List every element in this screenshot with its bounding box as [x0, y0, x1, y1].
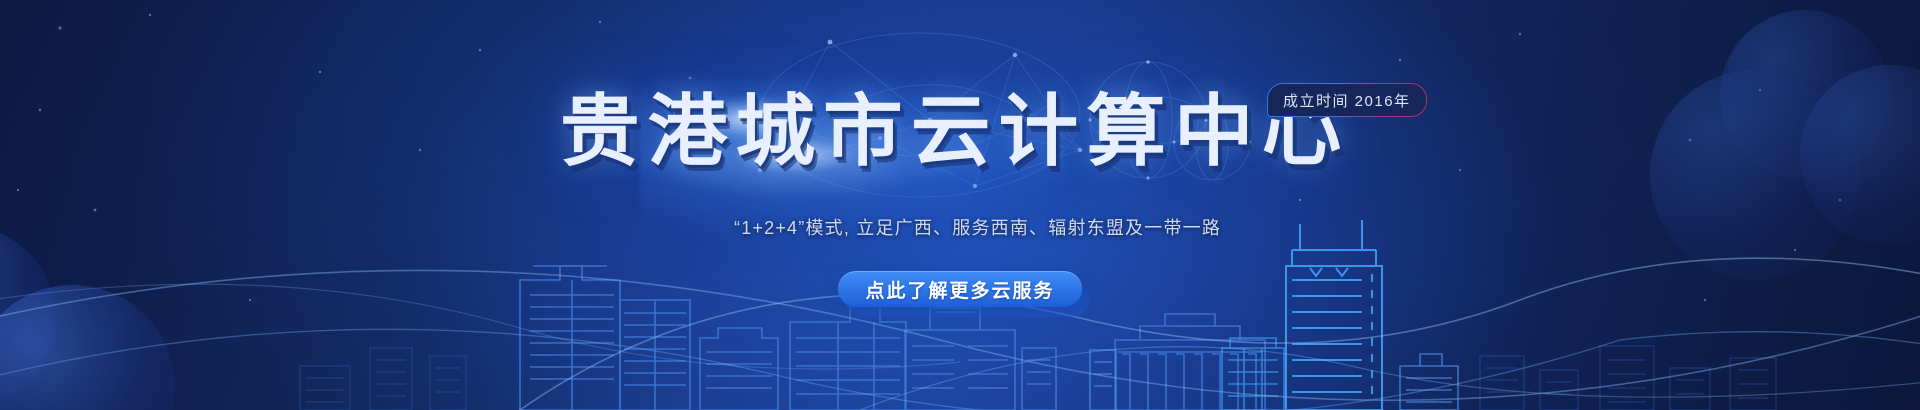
learn-more-cloud-services-button[interactable]: 点此了解更多云服务	[838, 271, 1082, 307]
established-badge-label: 成立时间 2016年	[1268, 84, 1426, 116]
hero-banner: 贵港城市云计算中心 成立时间 2016年 “1+2+4”模式, 立足广西、服务西…	[0, 0, 1920, 410]
page-subtitle: “1+2+4”模式, 立足广西、服务西南、辐射东盟及一带一路	[734, 214, 1221, 240]
established-badge: 成立时间 2016年	[1267, 83, 1427, 117]
page-title: 贵港城市云计算中心	[560, 92, 1349, 170]
